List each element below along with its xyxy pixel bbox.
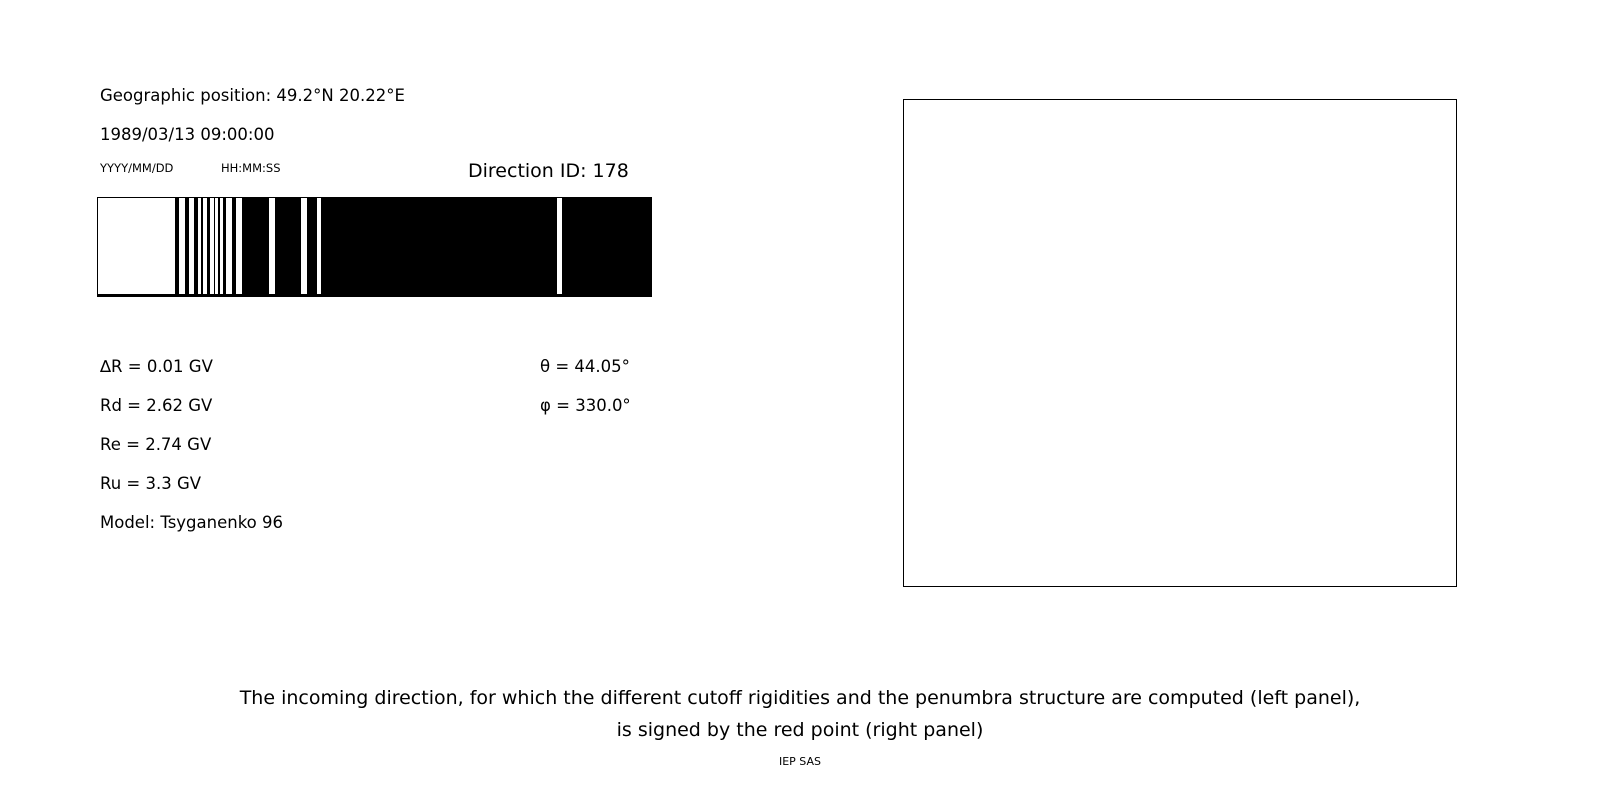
penumbra-band (218, 198, 221, 294)
figure-caption: The incoming direction, for which the di… (0, 682, 1600, 746)
penumbra-band (232, 198, 236, 294)
geographic-position-label: Geographic position: 49.2°N 20.22°E (100, 86, 405, 105)
param-theta: θ = 44.05° (540, 357, 630, 376)
penumbra-band (562, 198, 652, 294)
param-delta-r: ∆R = 0.01 GV (100, 357, 213, 376)
caption-line-1: The incoming direction, for which the di… (0, 682, 1600, 714)
datetime-label: 1989/03/13 09:00:00 (100, 125, 274, 144)
caption-line-2: is signed by the red point (right panel) (0, 714, 1600, 746)
penumbra-panel: Geographic position: 49.2°N 20.22°E 1989… (0, 0, 820, 660)
penumbra-band (307, 198, 317, 294)
footer-label: IEP SAS (0, 755, 1600, 768)
penumbra-band (223, 198, 225, 294)
penumbra-band (175, 198, 179, 294)
penumbra-band (242, 198, 269, 294)
param-phi: φ = 330.0° (540, 396, 631, 415)
param-rd: Rd = 2.62 GV (100, 396, 212, 415)
time-format-hint: HH:MM:SS (221, 161, 281, 175)
param-model: Model: Tsyganenko 96 (100, 513, 283, 532)
param-ru: Ru = 3.3 GV (100, 474, 201, 493)
penumbra-band (214, 198, 215, 294)
penumbra-band (207, 198, 210, 294)
penumbra-band (275, 198, 301, 294)
penumbra-band (321, 198, 557, 294)
param-re: Re = 2.74 GV (100, 435, 211, 454)
param-delta-r-value: ∆R = 0.01 GV (100, 357, 213, 376)
penumbra-bar (97, 197, 652, 295)
penumbra-band (201, 198, 203, 294)
rigidity-axis (97, 295, 652, 353)
penumbra-band (185, 198, 189, 294)
axis-line (97, 295, 652, 297)
date-format-hint: YYYY/MM/DD (100, 161, 173, 175)
sky-map-plot-area (903, 99, 1457, 587)
direction-id-label: Direction ID: 178 (468, 160, 629, 182)
penumbra-band (194, 198, 199, 294)
